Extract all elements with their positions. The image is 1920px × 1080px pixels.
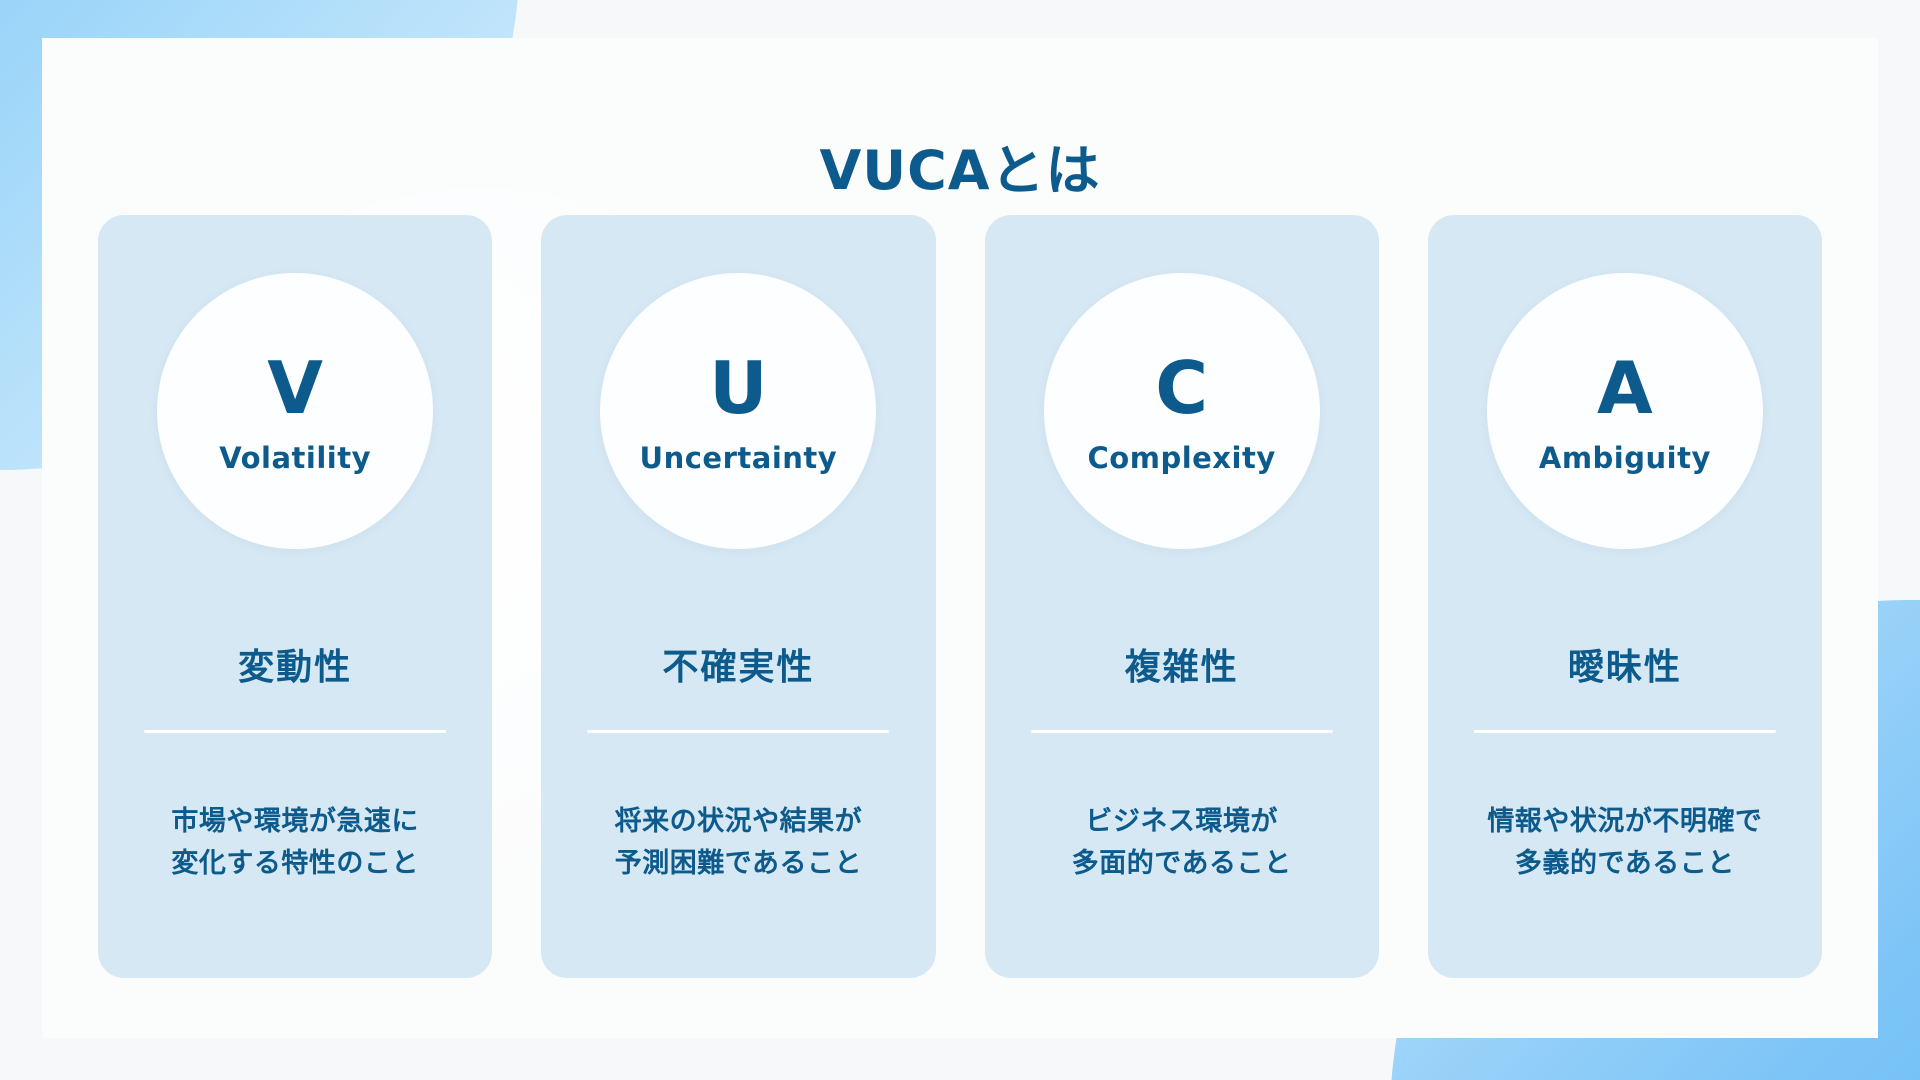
card-word: Complexity (1088, 441, 1276, 475)
card-word: Uncertainty (640, 441, 838, 475)
vuca-card-ambiguity[interactable]: A Ambiguity 曖昧性 情報や状況が不明確で 多義的であること (1428, 215, 1822, 978)
vuca-card-complexity[interactable]: C Complexity 複雑性 ビジネス環境が 多面的であること (985, 215, 1379, 978)
vuca-card-uncertainty[interactable]: U Uncertainty 不確実性 将来の状況や結果が 予測困難であること (541, 215, 935, 978)
card-description: 将来の状況や結果が 予測困難であること (615, 801, 863, 885)
card-jp-title: 変動性 (238, 638, 352, 690)
infographic-canvas: VUCAとは V Volatility 変動性 市場や環境が急速に 変化する特性… (0, 0, 1920, 1080)
card-description: ビジネス環境が 多面的であること (1072, 801, 1292, 885)
card-divider (587, 730, 889, 733)
card-divider (144, 730, 446, 733)
card-jp-title: 複雑性 (1125, 638, 1239, 690)
card-description: 市場や環境が急速に 変化する特性のこと (171, 801, 419, 885)
card-letter: U (709, 355, 767, 421)
card-divider (1474, 730, 1776, 733)
vuca-card-list: V Volatility 変動性 市場や環境が急速に 変化する特性のこと U U… (98, 215, 1822, 978)
card-letter: C (1155, 355, 1208, 421)
card-divider (1031, 730, 1333, 733)
card-jp-title: 不確実性 (662, 638, 814, 690)
letter-circle: V Volatility (157, 273, 433, 549)
card-description: 情報や状況が不明確で 多義的であること (1487, 801, 1762, 885)
letter-circle: U Uncertainty (600, 273, 876, 549)
vuca-card-volatility[interactable]: V Volatility 変動性 市場や環境が急速に 変化する特性のこと (98, 215, 492, 978)
letter-circle: A Ambiguity (1487, 273, 1763, 549)
letter-circle: C Complexity (1044, 273, 1320, 549)
content-panel: VUCAとは V Volatility 変動性 市場や環境が急速に 変化する特性… (42, 38, 1878, 1038)
card-letter: A (1597, 355, 1653, 421)
card-word: Ambiguity (1539, 441, 1711, 475)
card-letter: V (267, 355, 323, 421)
card-jp-title: 曖昧性 (1568, 638, 1682, 690)
card-word: Volatility (219, 441, 371, 475)
page-title: VUCAとは (42, 126, 1878, 205)
